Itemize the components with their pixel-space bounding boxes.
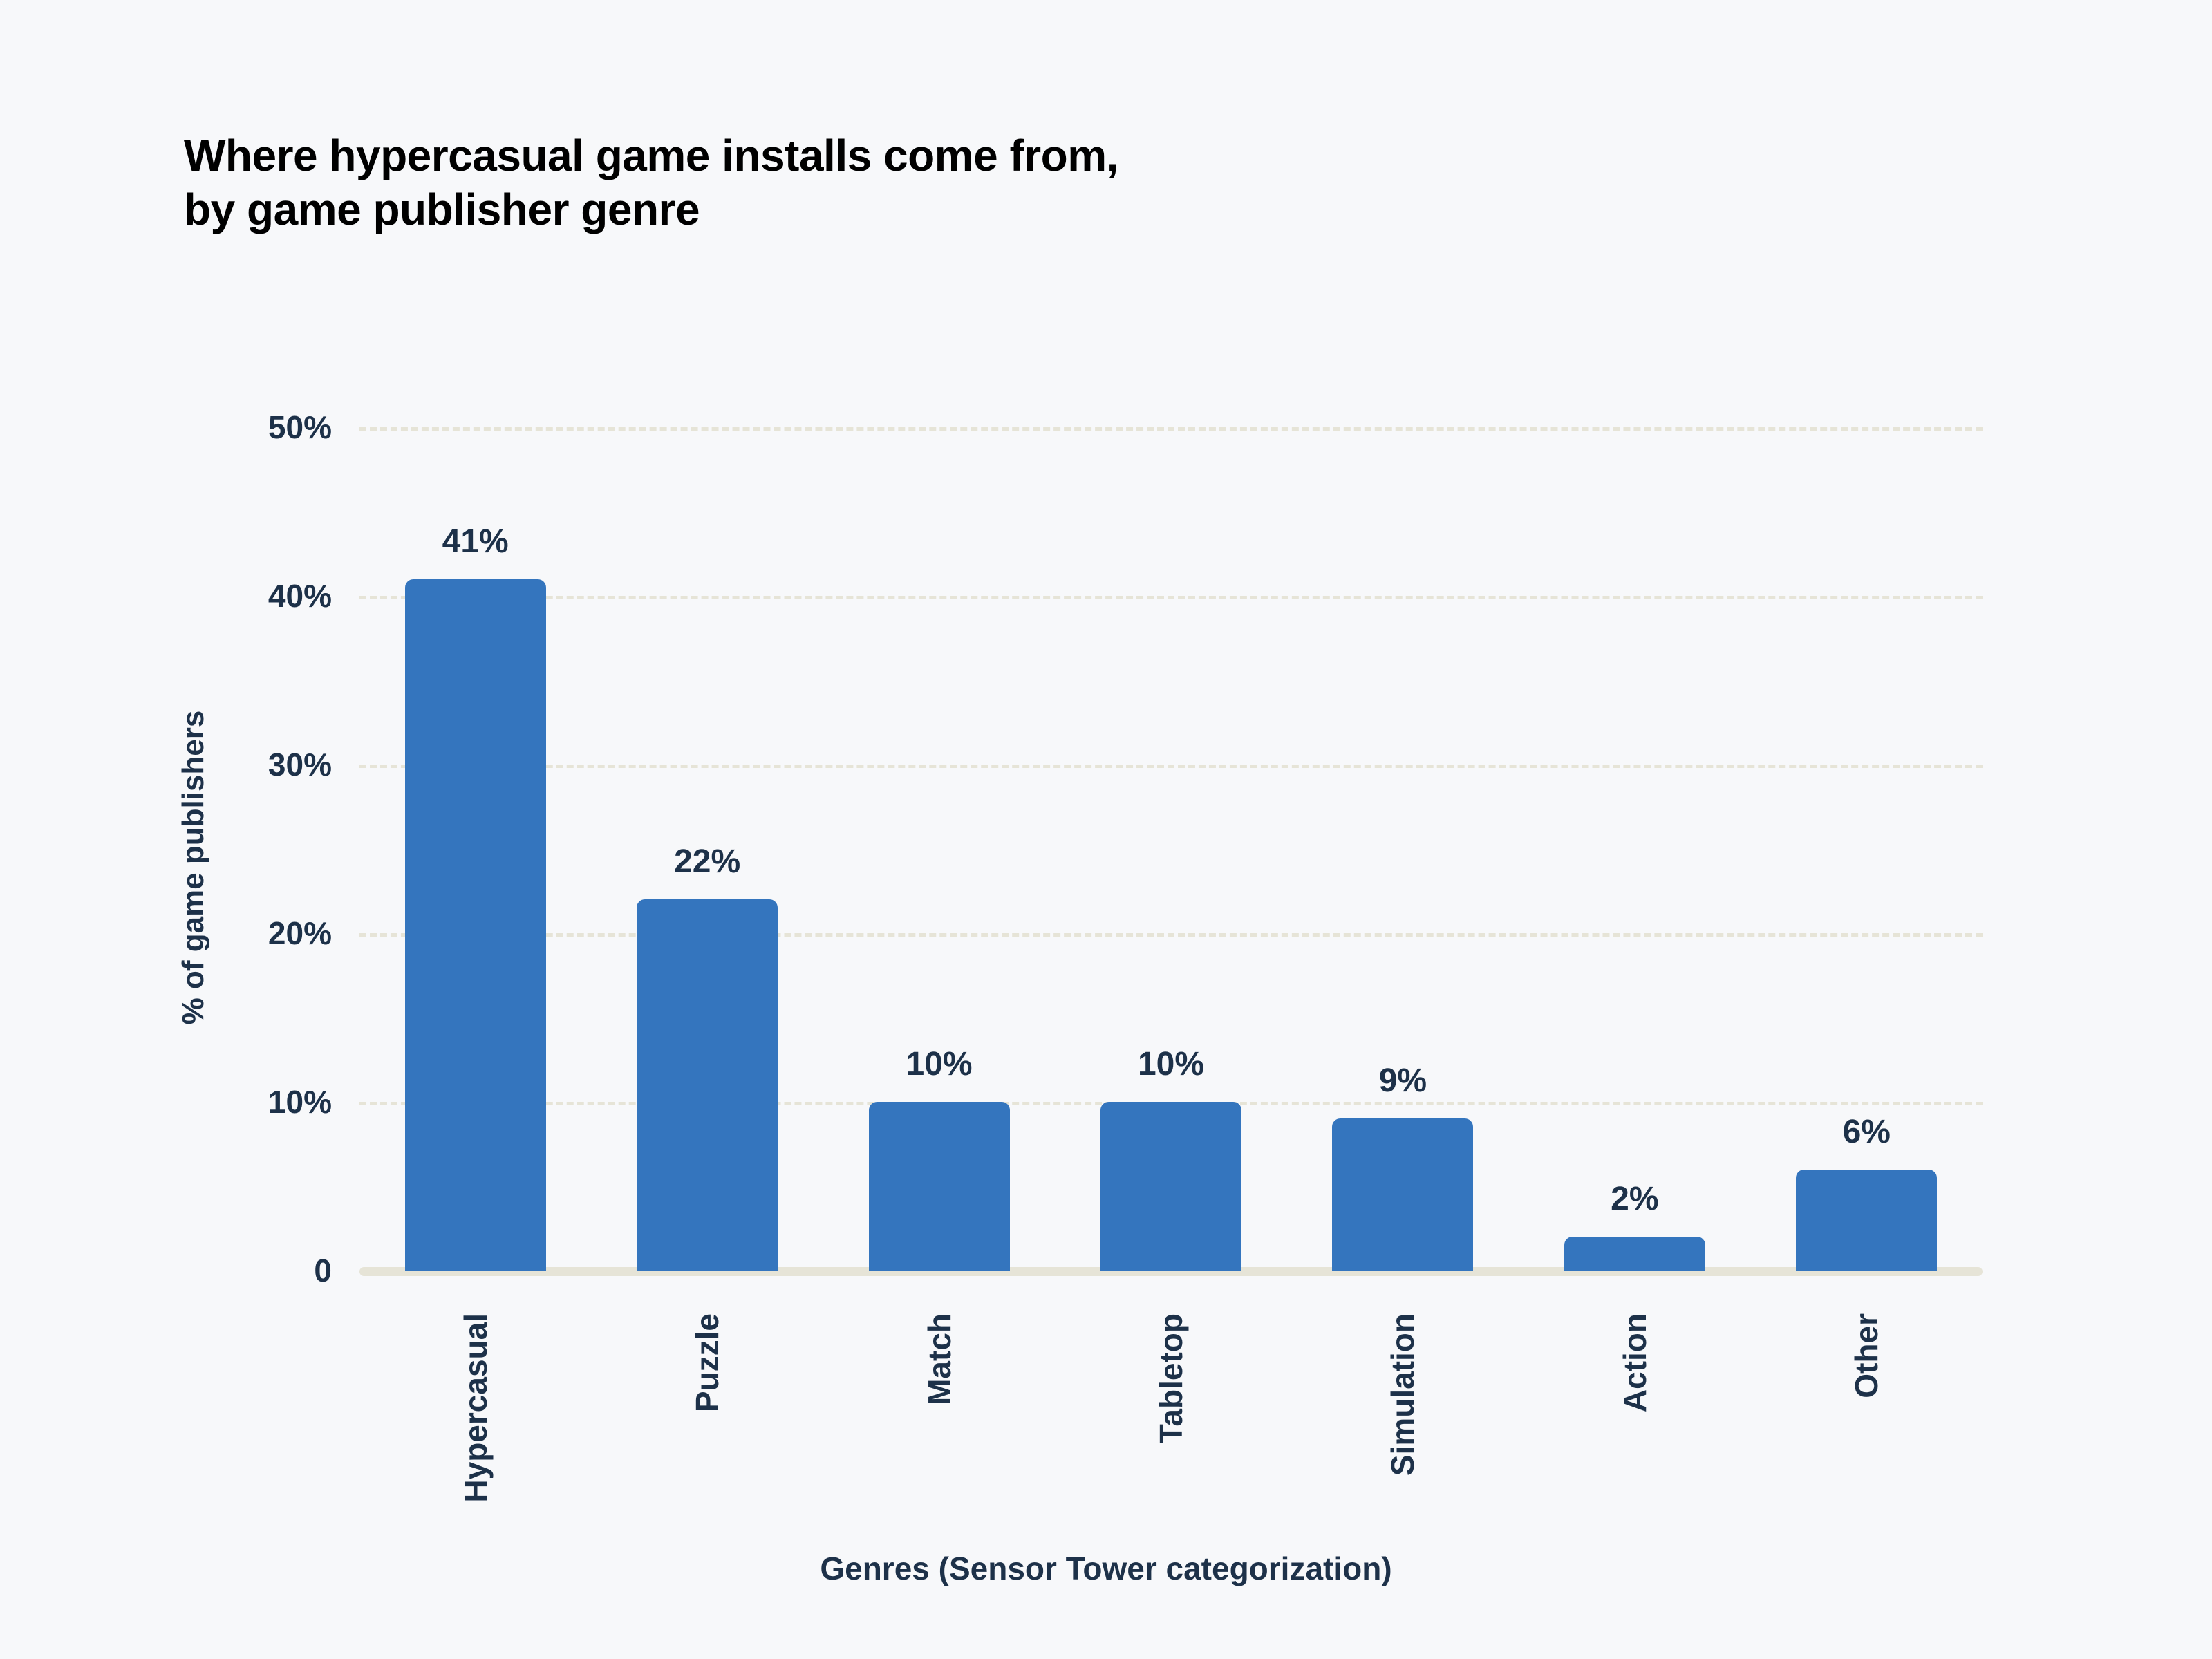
bar-group: 9%Simulation xyxy=(1332,0,1473,1659)
bar-value-label: 6% xyxy=(1754,1113,1978,1151)
y-tick-label: 20% xyxy=(268,915,332,952)
y-tick-label: 50% xyxy=(268,409,332,446)
bar-group: 10%Tabletop xyxy=(1100,0,1241,1659)
bar[interactable] xyxy=(1564,1237,1705,1271)
x-tick-label: Puzzle xyxy=(688,1313,726,1412)
bar-group: 2%Action xyxy=(1564,0,1705,1659)
bar[interactable] xyxy=(869,1102,1010,1271)
bar-value-label: 41% xyxy=(364,523,588,561)
bar-value-label: 10% xyxy=(1059,1045,1283,1083)
x-tick-label: Action xyxy=(1616,1313,1653,1412)
bar-group: 6%Other xyxy=(1796,0,1937,1659)
bar[interactable] xyxy=(405,579,546,1271)
x-tick-label: Other xyxy=(1848,1313,1885,1398)
x-tick-label: Match xyxy=(921,1313,958,1405)
y-axis-tick-labels: 50%40%30%20%10%0 xyxy=(0,0,332,1659)
bar[interactable] xyxy=(1332,1118,1473,1271)
x-tick-label: Tabletop xyxy=(1152,1313,1190,1443)
bar[interactable] xyxy=(1796,1170,1937,1271)
bar-group: 22%Puzzle xyxy=(637,0,778,1659)
bar-value-label: 2% xyxy=(1523,1180,1747,1218)
bars-layer: 41%Hypercasual22%Puzzle10%Match10%Tablet… xyxy=(359,0,1983,1659)
bar-chart: Where hypercasual game installs come fro… xyxy=(0,0,2212,1659)
y-tick-label: 40% xyxy=(268,577,332,615)
x-axis-title: Genres (Sensor Tower categorization) xyxy=(0,1550,2212,1587)
x-tick-label: Hypercasual xyxy=(457,1313,494,1503)
x-tick-label: Simulation xyxy=(1384,1313,1421,1476)
y-tick-label: 0 xyxy=(314,1252,332,1289)
y-axis-title: % of game publishers xyxy=(176,646,211,1089)
bar-value-label: 22% xyxy=(595,843,819,881)
bar-value-label: 9% xyxy=(1291,1062,1515,1100)
y-tick-label: 30% xyxy=(268,746,332,783)
bar[interactable] xyxy=(637,899,778,1271)
bar-value-label: 10% xyxy=(827,1045,1051,1083)
bar-group: 10%Match xyxy=(869,0,1010,1659)
y-tick-label: 10% xyxy=(268,1083,332,1121)
bar-group: 41%Hypercasual xyxy=(405,0,546,1659)
bar[interactable] xyxy=(1100,1102,1241,1271)
